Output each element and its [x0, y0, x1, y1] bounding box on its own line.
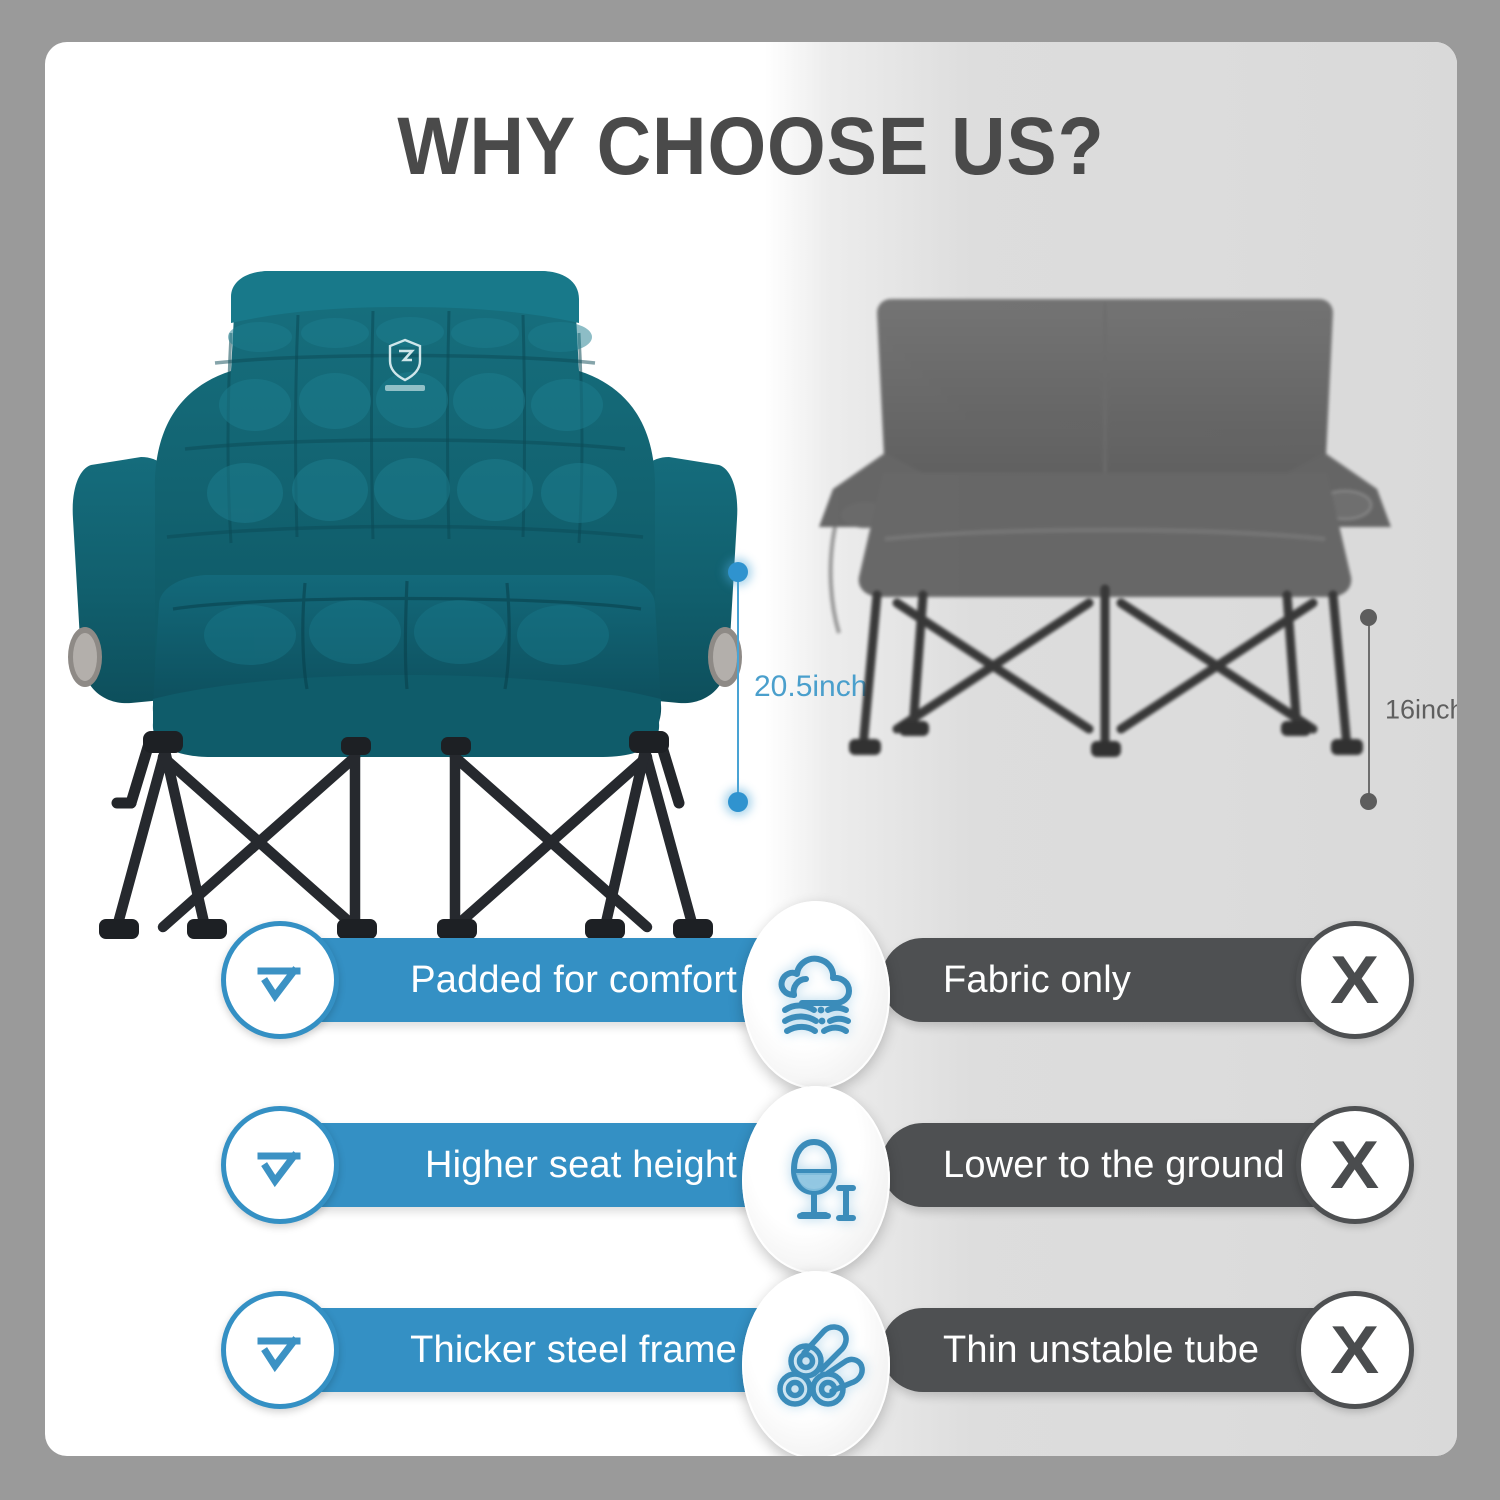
x-mark-icon: X — [1330, 941, 1379, 1019]
comparison-row: Padded for comfort — [45, 902, 1457, 1087]
cross-badge: X — [1296, 1291, 1414, 1409]
check-mark-icon — [249, 1134, 311, 1196]
our-product-image — [55, 237, 755, 827]
comparison-row: Thicker steel frame — [45, 1272, 1457, 1456]
cross-badge: X — [1296, 1106, 1414, 1224]
check-badge — [221, 921, 339, 1039]
con-label: Fabric only — [881, 959, 1131, 1002]
chair-height-icon — [768, 1132, 864, 1228]
check-mark-icon — [249, 949, 311, 1011]
con-label: Thin unstable tube — [881, 1329, 1259, 1372]
con-label: Lower to the ground — [881, 1144, 1285, 1187]
x-mark-icon: X — [1330, 1126, 1379, 1204]
cross-badge: X — [1296, 921, 1414, 1039]
steel-tubes-icon — [768, 1317, 864, 1413]
dimension-dot-top — [728, 562, 748, 582]
x-mark-icon: X — [1330, 1311, 1379, 1389]
dimension-line — [737, 572, 739, 802]
feature-icon-steel-tubes — [742, 1271, 890, 1456]
dimension-line — [1368, 617, 1370, 802]
infographic-card: WHY CHOOSE US? — [45, 42, 1457, 1456]
product-comparison-images: 20.5inch — [45, 217, 1457, 857]
cloud-cushion-icon — [768, 947, 864, 1043]
comparison-row: Higher seat height — [45, 1087, 1457, 1272]
dimension-dot-bottom — [1360, 793, 1377, 810]
comparison-rows: Padded for comfort — [45, 902, 1457, 1456]
dimension-dot-bottom — [728, 792, 748, 812]
page-title: WHY CHOOSE US? — [101, 100, 1400, 194]
competitor-product-image — [805, 277, 1405, 807]
dimension-dot-top — [1360, 609, 1377, 626]
cup-holder-left — [68, 627, 102, 687]
check-badge — [221, 1291, 339, 1409]
check-badge — [221, 1106, 339, 1224]
feature-icon-seat-height — [742, 1086, 890, 1274]
feature-icon-padding — [742, 901, 890, 1089]
competitor-height-label: 16inch — [1385, 694, 1457, 725]
check-mark-icon — [249, 1319, 311, 1381]
